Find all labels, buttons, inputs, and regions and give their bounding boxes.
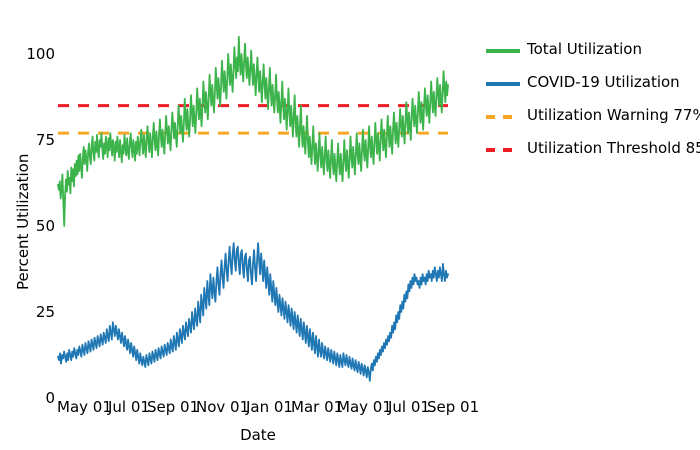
y-tick-label-25: 25 xyxy=(0,305,55,320)
legend-label-utilization-warning: Utilization Warning 77% xyxy=(527,105,700,126)
x-tick-label-3: Nov 01 xyxy=(196,400,249,415)
x-tick-label-1: Jul 01 xyxy=(108,400,150,415)
legend-swatch-covid-utilization xyxy=(486,82,520,86)
legend-swatch-utilization-threshold xyxy=(486,148,520,152)
legend-item-total-utilization[interactable]: Total Utilization xyxy=(486,36,700,69)
x-axis-label: Date xyxy=(203,428,313,443)
legend-label-total-utilization: Total Utilization xyxy=(527,39,642,60)
legend-item-covid-utilization[interactable]: COVID-19 Utilization xyxy=(486,69,700,102)
chart-legend: Total Utilization COVID-19 Utilization U… xyxy=(486,36,700,168)
x-tick-label-0: May 01 xyxy=(57,400,112,415)
x-tick-label-5: Mar 01 xyxy=(291,400,343,415)
y-tick-label-0: 0 xyxy=(0,391,55,406)
legend-label-utilization-threshold: Utilization Threshold 85% xyxy=(527,138,700,159)
y-tick-label-100: 100 xyxy=(0,47,55,62)
x-tick-label-8: Sep 01 xyxy=(427,400,479,415)
utilization-chart-figure: 100 75 50 25 0 Percent Utilization May 0… xyxy=(0,0,700,450)
legend-item-utilization-warning[interactable]: Utilization Warning 77% xyxy=(486,102,700,135)
y-axis-label: Percent Utilization xyxy=(16,154,31,290)
legend-label-covid-utilization: COVID-19 Utilization xyxy=(527,72,680,93)
x-tick-label-4: Jan 01 xyxy=(246,400,293,415)
legend-swatch-total-utilization xyxy=(486,49,520,53)
x-tick-label-7: Jul 01 xyxy=(388,400,430,415)
legend-swatch-utilization-warning xyxy=(486,115,520,119)
y-tick-label-75: 75 xyxy=(0,133,55,148)
x-tick-label-2: Sep 01 xyxy=(147,400,199,415)
x-tick-label-6: May 01 xyxy=(337,400,392,415)
legend-item-utilization-threshold[interactable]: Utilization Threshold 85% xyxy=(486,135,700,168)
